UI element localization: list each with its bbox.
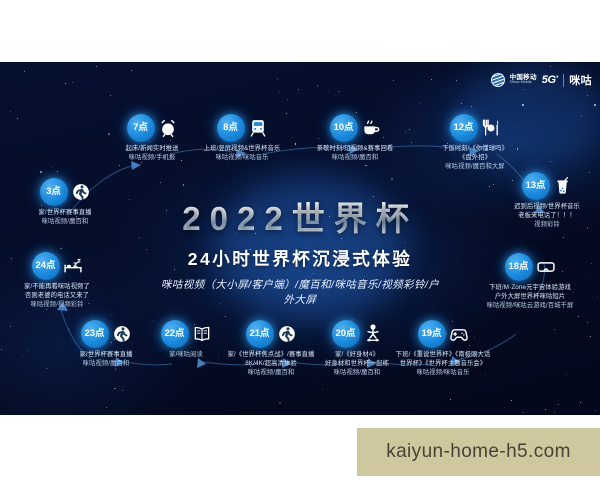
node-caption: 家/世界杯赛事直播咪咕视频/魔百和 [2,209,128,227]
node-time-bubble[interactable]: 24点 [32,252,60,280]
china-mobile-globe-icon [491,73,505,87]
node-caption-line: 下班/M·Zone元宇宙体验游戏 [467,284,593,293]
node-caption-line: 迟到后视频/世界杯音乐 [484,203,600,212]
node-caption-line: 咪咕视频/咪咕音乐 [179,154,305,163]
node-caption-line: 咪咕视频/魔百和大屏 [412,163,538,172]
running-person-icon [277,324,297,344]
node-time-bubble[interactable]: 8点 [217,114,245,142]
node-header: 13点 [484,172,600,200]
running-person-icon [112,324,132,344]
node-caption-line: 《盘外招》 [412,154,538,163]
node-time-bubble[interactable]: 23点 [81,320,109,348]
alarm-clock-icon [158,118,178,138]
timeline-node-24[interactable]: 24点家/不能再看咪咕视频了否则老婆的电话又来了咪咕视频/视频彩铃 [0,252,120,310]
node-header: 12点 [412,114,538,142]
node-header: 18点 [467,253,593,281]
node-caption-line: 咪咕视频/魔百和 [43,360,169,369]
migu-wordmark: 咪咕 [569,72,592,88]
node-caption: 上班/竖屏视频&世界杯音乐咪咕视频/咪咕音乐 [179,145,305,163]
node-time-bubble[interactable]: 3点 [40,178,68,206]
node-time-bubble[interactable]: 19点 [418,320,446,348]
china-mobile-wordmark: 中国移动 China Mobile [510,75,537,85]
node-caption-line: 视频彩铃 [484,221,600,230]
node-header: 8点 [179,114,305,142]
timeline-node-8[interactable]: 8点上班/竖屏视频&世界杯音乐咪咕视频/咪咕音乐 [179,114,305,163]
timeline-node-12[interactable]: 12点下饭时刻/《你懂球吗》《盘外招》咪咕视频/魔百和大屏 [412,114,538,172]
timeline-node-23[interactable]: 23点家/世界杯赛事直播咪咕视频/魔百和 [43,320,169,369]
node-caption: 下班/M·Zone元宇宙体验游戏户外大屏世界杯咪咕短片咪咕视频/咪咕云游戏/百城… [467,284,593,311]
node-time-bubble[interactable]: 13点 [522,172,550,200]
coffee-cup-icon [361,118,381,138]
node-caption-line: 茶歇时刻/短视频&赛事回看 [292,145,418,154]
node-time-bubble[interactable]: 7点 [127,114,155,142]
watermark-banner: kaiyun-home-h5.com [357,428,600,476]
node-header: 3点 [2,178,128,206]
running-person-icon [71,182,91,202]
node-caption: 家/不能再看咪咕视频了否则老婆的电话又来了咪咕视频/视频彩铃 [0,283,120,310]
node-caption-line: 老板来电话了！！！ [484,212,600,221]
node-caption-line: 咪咕视频/咪咕云游戏/百城千屏 [467,302,593,311]
node-time-bubble[interactable]: 10点 [330,114,358,142]
sleeping-bed-icon [63,256,83,276]
node-caption: 迟到后视频/世界杯音乐老板来电话了！！！视频彩铃 [484,203,600,230]
node-caption: 下饭时刻/《你懂球吗》《盘外招》咪咕视频/魔百和大屏 [412,145,538,172]
timeline-node-18[interactable]: 18点下班/M·Zone元宇宙体验游戏户外大屏世界杯咪咕短片咪咕视频/咪咕云游戏… [467,253,593,311]
fitness-person-icon [363,324,383,344]
node-caption-line: 否则老婆的电话又来了 [0,292,120,301]
node-time-bubble[interactable]: 20点 [332,320,360,348]
brand-logo-bar: 中国移动 China Mobile 5G+ 咪咕 [491,72,592,88]
node-header: 23点 [43,320,169,348]
logo-divider [563,74,564,87]
node-caption-line: 上班/竖屏视频&世界杯音乐 [179,145,305,154]
timeline-node-3[interactable]: 3点家/世界杯赛事直播咪咕视频/魔百和 [2,178,128,227]
node-caption: 家/世界杯赛事直播咪咕视频/魔百和 [43,351,169,369]
node-caption-line: 家/世界杯赛事直播 [2,209,128,218]
node-caption-line: 家/不能再看咪咕视频了 [0,283,120,292]
subway-train-icon [248,118,268,138]
game-controller-icon [449,324,469,344]
node-caption: 茶歇时刻/短视频&赛事回看咪咕视频/魔百和 [292,145,418,163]
bubble-tea-icon [553,176,573,196]
world-cup-poster: 中国移动 China Mobile 5G+ 咪咕 2022世界杯 24小时世界杯… [0,62,600,415]
node-caption-line: 家/世界杯赛事直播 [43,351,169,360]
node-caption-line: 咪咕视频/魔百和 [292,154,418,163]
node-caption-line: 下饭时刻/《你懂球吗》 [412,145,538,154]
node-time-bubble[interactable]: 21点 [246,320,274,348]
fork-knife-plate-icon [481,118,501,138]
node-header: 10点 [292,114,418,142]
node-header: 24点 [0,252,120,280]
vr-goggles-icon [536,257,556,277]
brand-name-en: China Mobile [510,81,537,85]
node-caption-line: 咪咕视频/魔百和 [208,369,334,378]
open-book-icon [192,324,212,344]
node-caption-line: 咪咕视频/魔百和 [2,218,128,227]
node-caption-line: 咪咕视频/视频彩铃 [0,301,120,310]
node-caption-line: 户外大屏世界杯咪咕短片 [467,293,593,302]
node-caption-line: 8K/4K/超高清体验 [208,360,334,369]
timeline-node-10[interactable]: 10点茶歇时刻/短视频&赛事回看咪咕视频/魔百和 [292,114,418,163]
node-time-bubble[interactable]: 18点 [505,253,533,281]
poster-page: 中国移动 China Mobile 5G+ 咪咕 2022世界杯 24小时世界杯… [0,0,600,480]
watermark-text: kaiyun-home-h5.com [386,441,571,463]
5g-badge: 5G+ [542,74,558,86]
timeline-node-13[interactable]: 13点迟到后视频/世界杯音乐老板来电话了！！！视频彩铃 [484,172,600,230]
node-time-bubble[interactable]: 12点 [450,114,478,142]
